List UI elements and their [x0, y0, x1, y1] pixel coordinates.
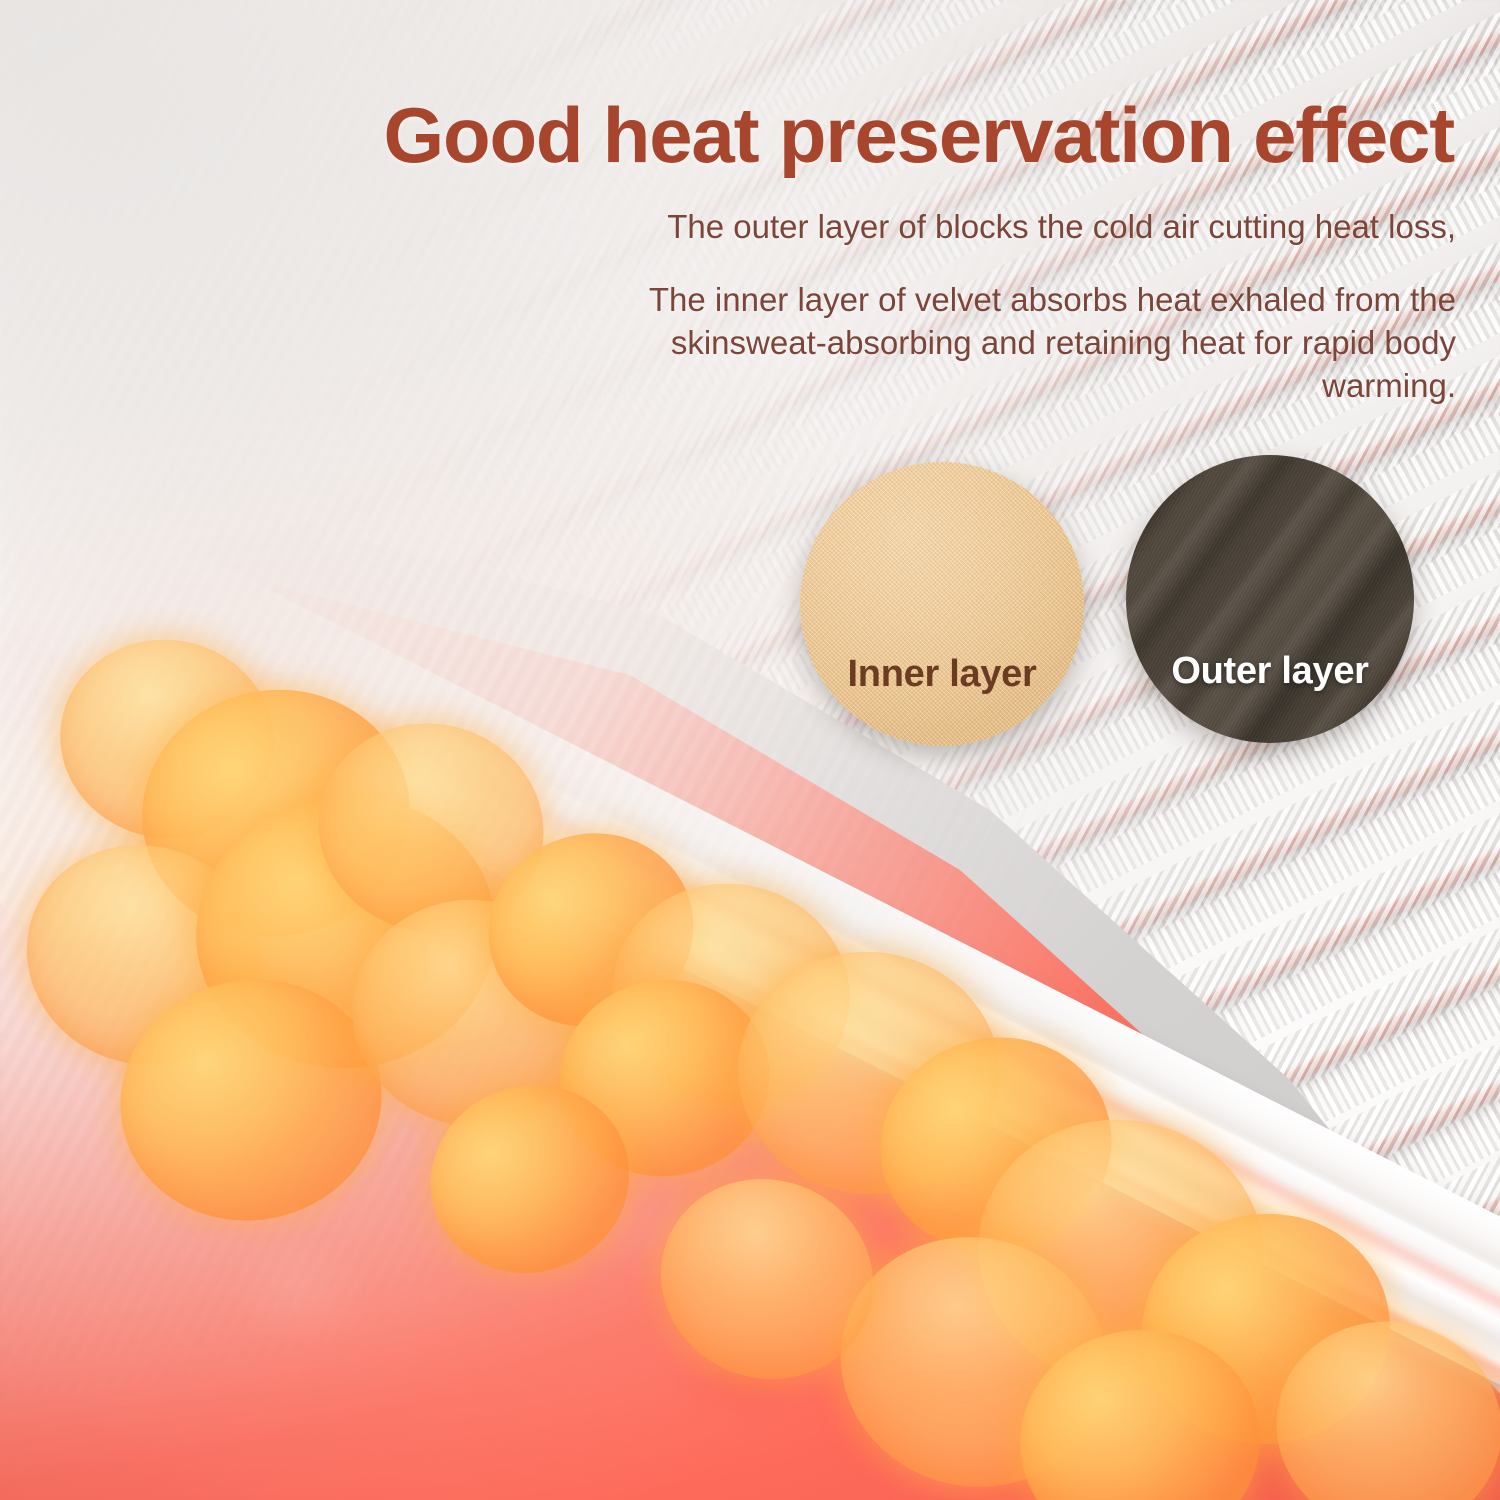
feature-description: The outer layer of blocks the cold air c…	[616, 206, 1456, 408]
product-feature-poster: Good heat preservation effect The outer …	[0, 0, 1500, 1500]
swatch-outer-layer[interactable]: Outer layer	[1126, 455, 1414, 743]
description-paragraph-2: The inner layer of velvet absorbs heat e…	[616, 279, 1456, 408]
swatch-outer-layer-label: Outer layer	[1171, 650, 1368, 743]
swatch-inner-layer[interactable]: Inner layer	[800, 462, 1084, 746]
description-paragraph-1: The outer layer of blocks the cold air c…	[616, 206, 1456, 249]
page-title: Good heat preservation effect	[0, 96, 1454, 174]
swatch-inner-layer-label: Inner layer	[848, 653, 1037, 746]
